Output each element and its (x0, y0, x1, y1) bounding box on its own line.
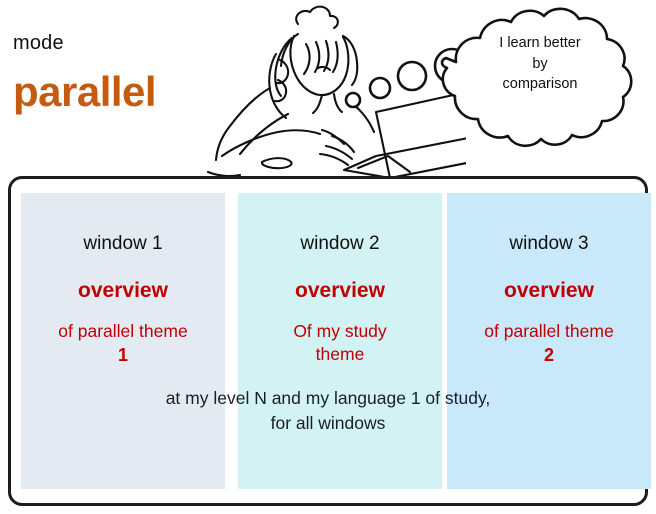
mode-value: parallel (13, 68, 156, 116)
mode-label: mode (13, 32, 64, 55)
window-3-number: 2 (447, 345, 651, 366)
window-2-subtitle-line-1: Of my study (238, 320, 442, 343)
window-1-overview-label: overview (21, 279, 225, 303)
window-1-title: window 1 (21, 233, 225, 255)
window-2-overview-label: overview (238, 279, 442, 303)
window-panel-3[interactable]: window 3 overview of parallel theme 2 (447, 193, 651, 489)
slide-root: mode parallel (0, 0, 656, 514)
thought-bubble-text: I learn better by comparison (466, 33, 614, 95)
window-2-subtitle: Of my study theme (238, 320, 442, 366)
window-3-title: window 3 (447, 233, 651, 255)
window-2-title: window 2 (238, 233, 442, 255)
windows-container: window 1 overview of parallel theme 1 wi… (8, 176, 648, 506)
thought-line-3: comparison (466, 74, 614, 95)
window-3-subtitle: of parallel theme (447, 320, 651, 343)
window-2-subtitle-line-2: theme (238, 343, 442, 366)
window-panel-2[interactable]: window 2 overview Of my study theme (238, 193, 442, 489)
window-panel-1[interactable]: window 1 overview of parallel theme 1 (21, 193, 225, 489)
windows-panels: window 1 overview of parallel theme 1 wi… (11, 179, 645, 503)
window-1-subtitle: of parallel theme (21, 320, 225, 343)
window-3-overview-label: overview (447, 279, 651, 303)
window-1-number: 1 (21, 345, 225, 366)
thought-line-1: I learn better (466, 33, 614, 54)
thought-line-2: by (466, 54, 614, 75)
